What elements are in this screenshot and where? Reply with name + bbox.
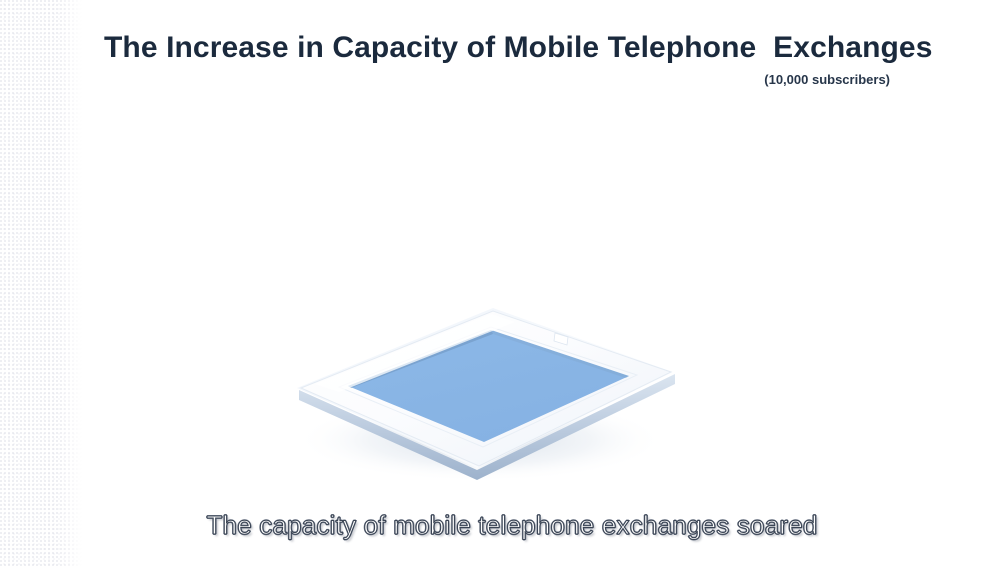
title-unit-note: (10,000 subscribers) (104, 72, 890, 88)
slide-canvas: The Increase in Capacity of Mobile Telep… (0, 0, 1008, 567)
caption-text: The capacity of mobile telephone exchang… (206, 508, 817, 542)
tablet-device-graphic (255, 280, 705, 495)
textured-left-margin (0, 0, 82, 567)
slide-header: The Increase in Capacity of Mobile Telep… (104, 30, 904, 88)
page-title: The Increase in Capacity of Mobile Telep… (104, 30, 904, 66)
tablet-illustration (255, 280, 705, 495)
caption-container: The capacity of mobile telephone exchang… (82, 508, 942, 542)
